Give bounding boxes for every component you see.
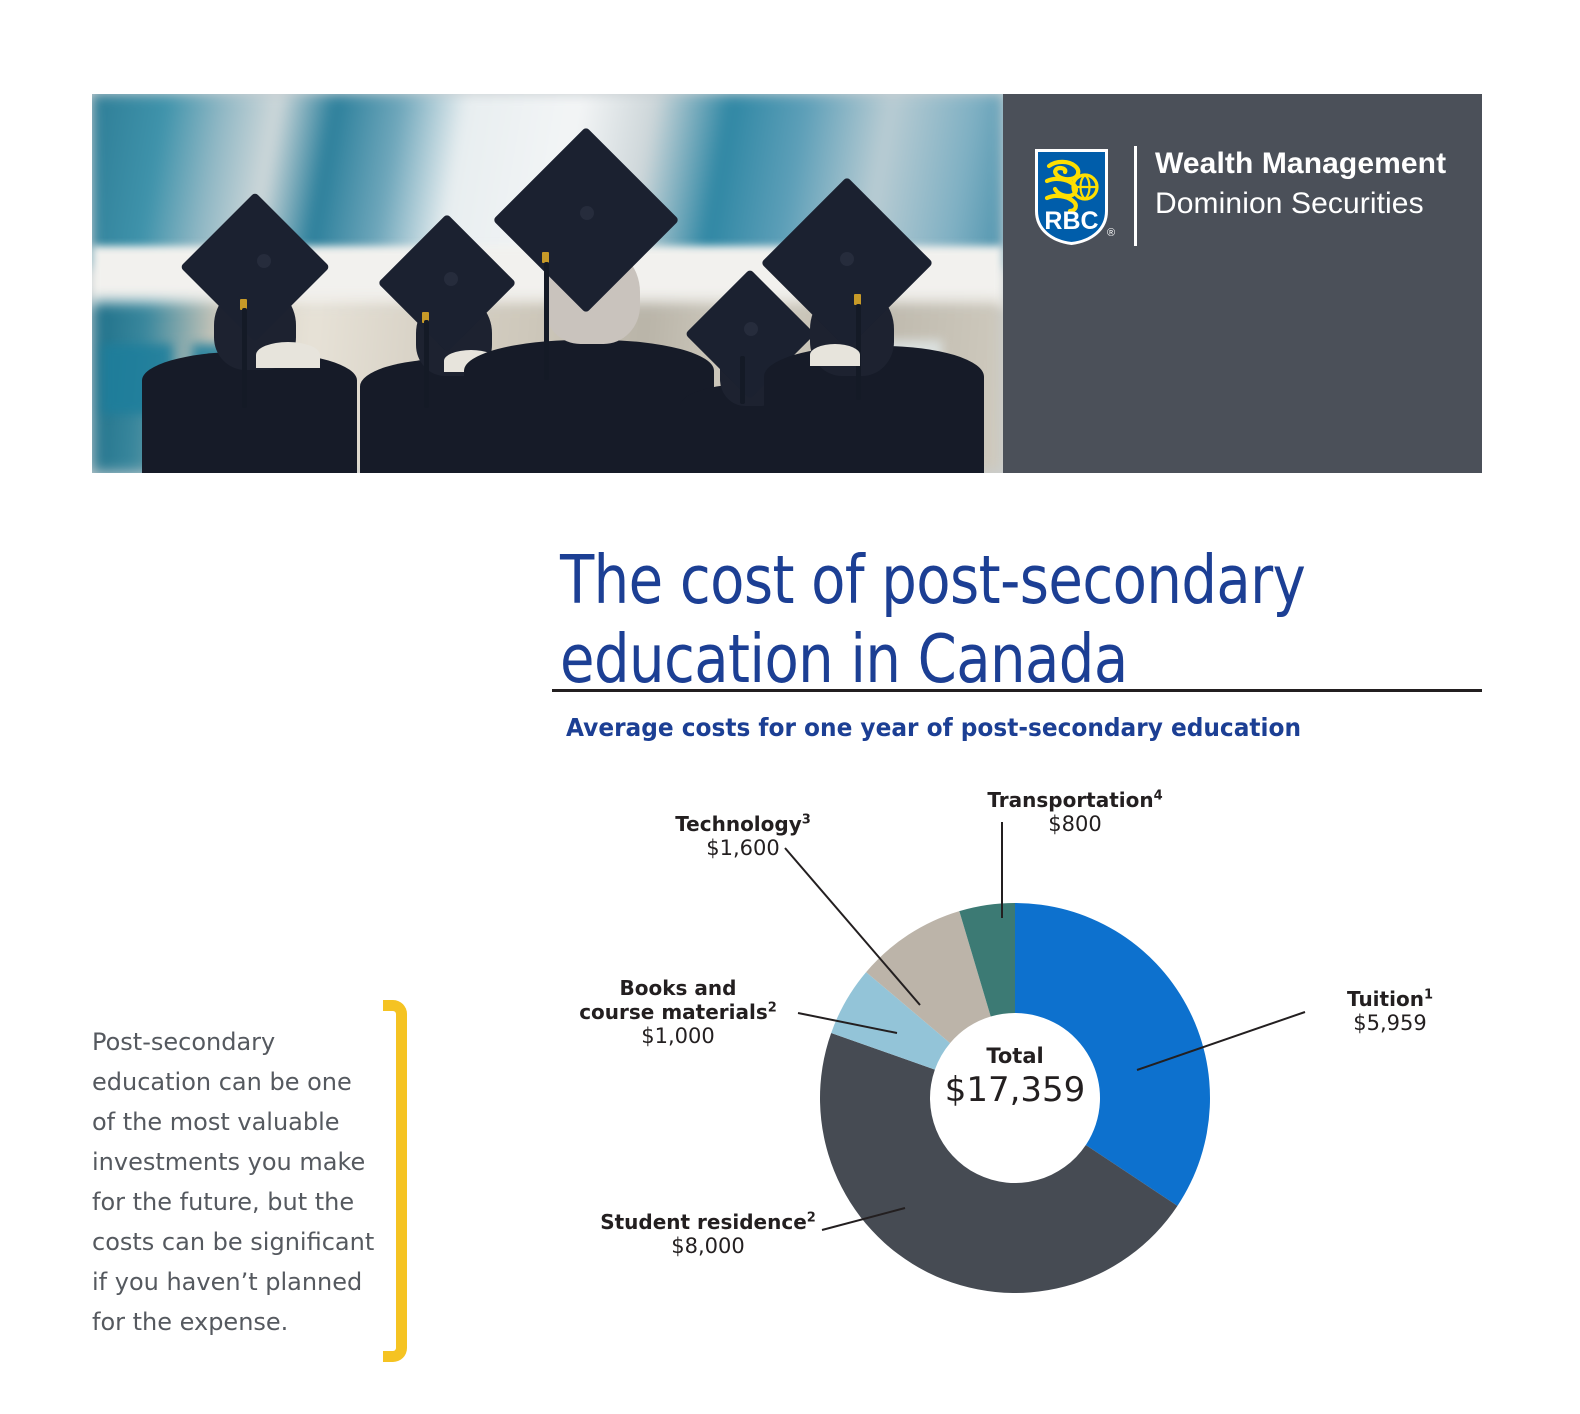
leader-line-technology: [785, 848, 920, 1005]
cap-button: [444, 272, 458, 286]
brand-text: Wealth Management Dominion Securities: [1155, 144, 1446, 224]
total-value: $17,359: [905, 1070, 1125, 1110]
label-books-and-course-materials: Books and course materials2 $1,000: [558, 976, 798, 1048]
footnote-marker: 2: [807, 1210, 816, 1225]
label-residence-name: Student residence2: [588, 1210, 828, 1234]
label-books-name-line1: Books and: [558, 976, 798, 1000]
label-transportation-name: Transportation4: [960, 788, 1190, 812]
label-tuition: Tuition1 $5,959: [1310, 987, 1470, 1035]
rbc-shield-logo: RBC: [1035, 149, 1108, 245]
graduate-gown: [464, 340, 714, 473]
donut-center-total: Total $17,359: [905, 1044, 1125, 1110]
graduate-collar: [256, 342, 320, 368]
cap-button: [580, 206, 594, 220]
label-residence-value: $8,000: [588, 1234, 828, 1258]
quote-text: Post-secondary education can be one of t…: [92, 1022, 382, 1342]
footnote-marker: 3: [802, 812, 811, 827]
footnote-marker: 2: [768, 1000, 777, 1015]
svg-text:RBC: RBC: [1044, 207, 1098, 235]
brand-panel: RBC ® Wealth Management Dominion Securit…: [1003, 94, 1482, 473]
label-technology-name: Technology3: [648, 812, 838, 836]
footnote-marker: 4: [1154, 788, 1163, 803]
chart-subtitle: Average costs for one year of post-secon…: [566, 713, 1301, 742]
label-student-residence: Student residence2 $8,000: [588, 1210, 828, 1258]
graduation-cap: [520, 154, 652, 286]
donut-chart: Technology3 $1,600 Books and course mate…: [560, 780, 1480, 1340]
label-technology-value: $1,600: [648, 836, 838, 860]
label-transportation: Transportation4 $800: [960, 788, 1190, 836]
total-label: Total: [905, 1044, 1125, 1068]
cap-button: [840, 252, 854, 266]
label-books-name-line2: course materials2: [558, 1000, 798, 1024]
brand-line-dominion-securities: Dominion Securities: [1155, 184, 1446, 224]
graduate-gown: [142, 352, 357, 473]
label-tuition-value: $5,959: [1310, 1011, 1470, 1035]
brand-divider: [1134, 146, 1137, 246]
graduation-cap: [202, 214, 308, 320]
registered-mark: ®: [1107, 227, 1115, 239]
cap-button: [257, 254, 271, 268]
cap-button: [744, 322, 758, 336]
brand-line-wealth-management: Wealth Management: [1155, 144, 1446, 184]
label-transportation-value: $800: [960, 812, 1190, 836]
cap-tassel: [242, 308, 247, 408]
cap-tassel: [740, 356, 745, 404]
hero-photo: [92, 94, 1003, 473]
title-divider: [552, 689, 1482, 692]
footnote-marker: 1: [1424, 987, 1433, 1002]
quote-bracket-accent: [383, 1000, 407, 1362]
cap-tassel: [424, 320, 429, 408]
graduate-collar: [810, 344, 860, 366]
label-books-value: $1,000: [558, 1024, 798, 1048]
label-technology: Technology3 $1,600: [648, 812, 838, 860]
cap-tassel: [544, 262, 549, 380]
header-band: RBC ® Wealth Management Dominion Securit…: [92, 94, 1482, 473]
label-tuition-name: Tuition1: [1310, 987, 1470, 1011]
page-title: The cost of post-secondary education in …: [560, 541, 1397, 699]
